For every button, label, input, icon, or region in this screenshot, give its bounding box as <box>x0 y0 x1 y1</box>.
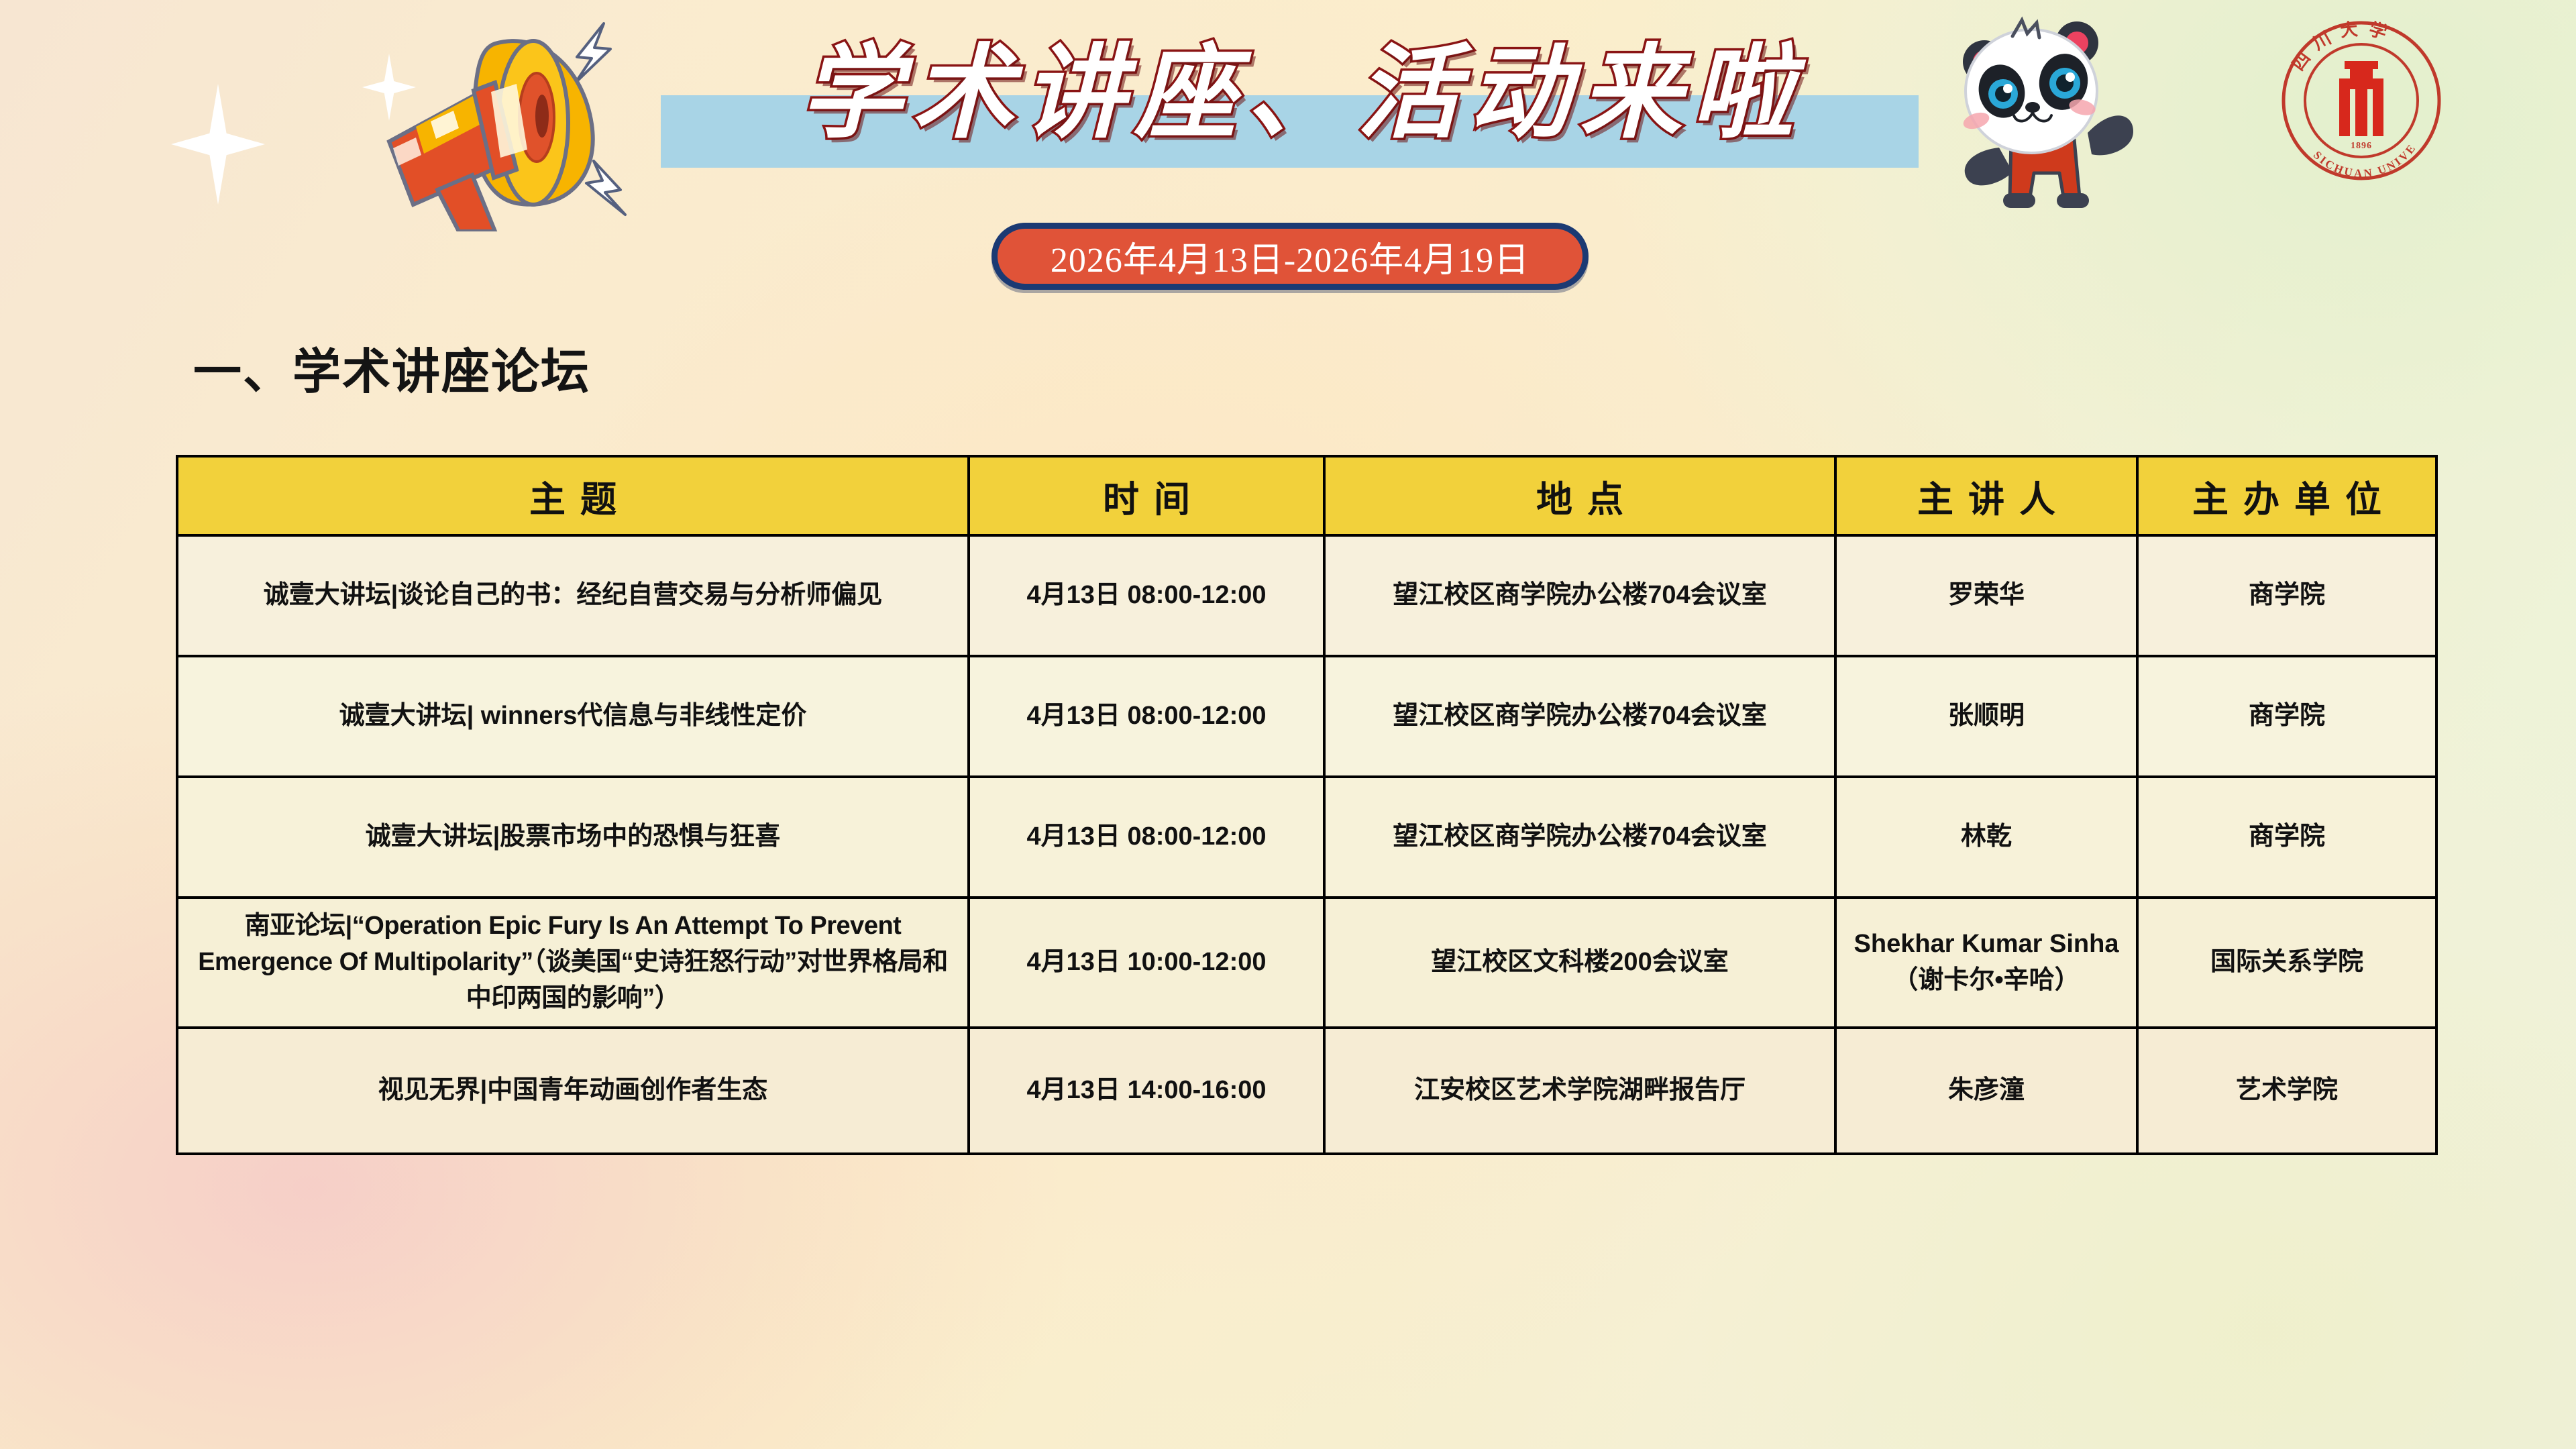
cell-time: 4月13日 08:00-12:00 <box>969 777 1324 898</box>
column-header-place: 地点 <box>1324 456 1835 535</box>
svg-text:1896: 1896 <box>2351 141 2372 151</box>
cell-place: 望江校区商学院办公楼704会议室 <box>1324 535 1835 656</box>
cell-topic: 南亚论坛|“Operation Epic Fury Is An Attempt … <box>177 898 969 1028</box>
table-row: 南亚论坛|“Operation Epic Fury Is An Attempt … <box>177 898 2436 1028</box>
cell-place: 望江校区文科楼200会议室 <box>1324 898 1835 1028</box>
cell-time: 4月13日 08:00-12:00 <box>969 656 1324 777</box>
schedule-table: 主题 时间 地点 主讲人 主办单位 诚壹大讲坛|谈论自己的书：经纪自营交易与分析… <box>176 455 2438 1155</box>
cell-place: 望江校区商学院办公楼704会议室 <box>1324 777 1835 898</box>
section-heading: 一、学术讲座论坛 <box>193 332 590 402</box>
schedule-table-container: 主题 时间 地点 主讲人 主办单位 诚壹大讲坛|谈论自己的书：经纪自营交易与分析… <box>176 455 2435 1155</box>
megaphone-icon <box>315 10 651 231</box>
column-header-org: 主办单位 <box>2137 456 2436 535</box>
cell-topic: 诚壹大讲坛|股票市场中的恐惧与狂喜 <box>177 777 969 898</box>
cell-speaker: Shekhar Kumar Sinha （谢卡尔•辛哈） <box>1835 898 2137 1028</box>
cell-topic: 视见无界|中国青年动画创作者生态 <box>177 1028 969 1154</box>
cell-place: 望江校区商学院办公楼704会议室 <box>1324 656 1835 777</box>
cell-time: 4月13日 10:00-12:00 <box>969 898 1324 1028</box>
table-row: 诚壹大讲坛|股票市场中的恐惧与狂喜 4月13日 08:00-12:00 望江校区… <box>177 777 2436 898</box>
cell-place: 江安校区艺术学院湖畔报告厅 <box>1324 1028 1835 1154</box>
cell-org: 商学院 <box>2137 777 2436 898</box>
table-row: 诚壹大讲坛| winners代信息与非线性定价 4月13日 08:00-12:0… <box>177 656 2436 777</box>
column-header-topic: 主题 <box>177 456 969 535</box>
cell-topic: 诚壹大讲坛| winners代信息与非线性定价 <box>177 656 969 777</box>
table-row: 视见无界|中国青年动画创作者生态 4月13日 14:00-16:00 江安校区艺… <box>177 1028 2436 1154</box>
page-header: 学术讲座、活动来啦 2026年4月13日-2026年4月19日 <box>0 0 2576 309</box>
cell-speaker: 朱彦潼 <box>1835 1028 2137 1154</box>
cell-time: 4月13日 08:00-12:00 <box>969 535 1324 656</box>
cell-speaker: 罗荣华 <box>1835 535 2137 656</box>
cell-org: 商学院 <box>2137 656 2436 777</box>
cell-speaker: 张顺明 <box>1835 656 2137 777</box>
cell-org: 商学院 <box>2137 535 2436 656</box>
table-row: 诚壹大讲坛|谈论自己的书：经纪自营交易与分析师偏见 4月13日 08:00-12… <box>177 535 2436 656</box>
page-title: 学术讲座、活动来啦 <box>711 25 1892 163</box>
cell-org: 艺术学院 <box>2137 1028 2436 1154</box>
cell-speaker: 林乾 <box>1835 777 2137 898</box>
cell-org: 国际关系学院 <box>2137 898 2436 1028</box>
university-logo: 1896 四川大学 SICHUAN UNIVERSITY <box>2277 17 2445 184</box>
column-header-speaker: 主讲人 <box>1835 456 2137 535</box>
date-range-badge: 2026年4月13日-2026年4月19日 <box>991 223 1589 290</box>
cell-topic: 诚壹大讲坛|谈论自己的书：经纪自营交易与分析师偏见 <box>177 535 969 656</box>
table-header-row: 主题 时间 地点 主讲人 主办单位 <box>177 456 2436 535</box>
date-range-text: 2026年4月13日-2026年4月19日 <box>1051 231 1529 282</box>
column-header-time: 时间 <box>969 456 1324 535</box>
sparkle-icon <box>171 84 265 205</box>
cell-time: 4月13日 14:00-16:00 <box>969 1028 1324 1154</box>
panda-mascot-icon <box>1932 5 2153 227</box>
